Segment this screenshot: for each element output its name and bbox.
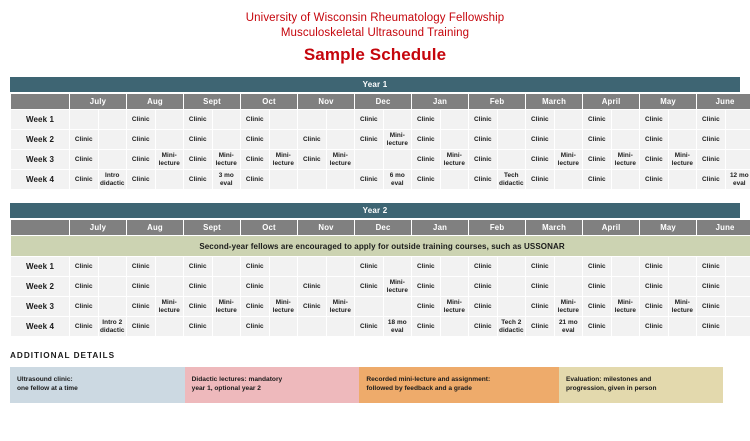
header-line-1: University of Wisconsin Rheumatology Fel… <box>0 11 750 26</box>
year2-cell-dec-w2-1: Clinic <box>355 277 383 296</box>
year1-cell-dec-w2-1: Clinic <box>355 130 383 149</box>
year1-cell-march-w2-1: Clinic <box>526 130 554 149</box>
year1-cell-june-w4-2: 12 moeval <box>726 170 750 189</box>
year1-week-row: Week 1ClinicClinicClinicClinicClinicClin… <box>11 110 750 129</box>
year2-cell-jan-w3-1: Clinic <box>412 297 440 316</box>
year1-cell-sept-w1-2 <box>213 110 241 129</box>
year2-cell-aug-w3-2: Mini-lecture <box>156 297 184 316</box>
year2-cell-jan-w2-1: Clinic <box>412 277 440 296</box>
year2-cell-aug-w4-1: Clinic <box>127 317 155 336</box>
additional-details-section: ADDITIONAL DETAILS Ultrasound clinic:one… <box>10 337 740 403</box>
year1-cell-june-w1-1: Clinic <box>697 110 725 129</box>
year1-cell-oct-w3-2: Mini-lecture <box>270 150 298 169</box>
year1-cell-may-w1-1: Clinic <box>640 110 668 129</box>
year2-cell-june-w2-2 <box>726 277 750 296</box>
year1-cell-may-w4-1: Clinic <box>640 170 668 189</box>
year1-week-row: Week 3ClinicClinicMini-lectureClinicMini… <box>11 150 750 169</box>
year1-cell-nov-w3-2: Mini-lecture <box>327 150 355 169</box>
year2-cell-aug-w1-1: Clinic <box>127 257 155 276</box>
year1-cell-oct-w3-1: Clinic <box>241 150 269 169</box>
year2-month-header-oct: Oct <box>241 220 297 235</box>
year1-cell-sept-w1-1: Clinic <box>184 110 212 129</box>
year2-cell-march-w1-1: Clinic <box>526 257 554 276</box>
year2-cell-march-w4-1: Clinic <box>526 317 554 336</box>
year2-cell-dec-w1-2 <box>384 257 412 276</box>
year2-block: Year 2 JulyAugSeptOctNovDecJanFebMarchAp… <box>10 203 740 337</box>
year1-cell-feb-w1-1: Clinic <box>469 110 497 129</box>
year1-month-header-aug: Aug <box>127 94 183 109</box>
year2-cell-july-w1-1: Clinic <box>70 257 98 276</box>
year1-banner: Year 1 <box>10 77 740 92</box>
year2-cell-oct-w1-1: Clinic <box>241 257 269 276</box>
year2-cell-may-w4-1: Clinic <box>640 317 668 336</box>
year2-month-header-nov: Nov <box>298 220 354 235</box>
legend-item-line1: Didactic lectures: mandatory <box>192 375 353 384</box>
year1-cell-may-w2-2 <box>669 130 697 149</box>
year1-cell-april-w3-1: Clinic <box>583 150 611 169</box>
year2-cell-april-w4-1: Clinic <box>583 317 611 336</box>
year1-cell-oct-w2-1: Clinic <box>241 130 269 149</box>
year2-week-row: Week 1ClinicClinicClinicClinicClinicClin… <box>11 257 750 276</box>
year2-cell-june-w1-2 <box>726 257 750 276</box>
year1-week-label-4: Week 4 <box>11 170 69 189</box>
year1-cell-feb-w2-2 <box>498 130 526 149</box>
legend-item-line2: one fellow at a time <box>17 384 178 393</box>
year2-cell-nov-w1-1 <box>298 257 326 276</box>
year1-cell-sept-w2-2 <box>213 130 241 149</box>
year2-cell-june-w4-2 <box>726 317 750 336</box>
year2-cell-feb-w2-2 <box>498 277 526 296</box>
year1-cell-sept-w3-2: Mini-lecture <box>213 150 241 169</box>
year1-cell-march-w3-2: Mini-lecture <box>555 150 583 169</box>
year2-cell-dec-w4-2: 18 moeval <box>384 317 412 336</box>
year2-cell-june-w4-1: Clinic <box>697 317 725 336</box>
year2-cell-may-w2-1: Clinic <box>640 277 668 296</box>
year2-cell-july-w2-2 <box>99 277 127 296</box>
year1-cell-aug-w3-2: Mini-lecture <box>156 150 184 169</box>
year1-block: Year 1 JulyAugSeptOctNovDecJanFebMarchAp… <box>10 77 740 190</box>
header-line-2: Musculoskeletal Ultrasound Training <box>0 26 750 41</box>
year2-cell-may-w4-2 <box>669 317 697 336</box>
year1-cell-july-w2-2 <box>99 130 127 149</box>
year2-cell-june-w2-1: Clinic <box>697 277 725 296</box>
year2-week-row: Week 3ClinicClinicMini-lectureClinicMini… <box>11 297 750 316</box>
year1-cell-july-w3-2 <box>99 150 127 169</box>
year2-cell-july-w3-1: Clinic <box>70 297 98 316</box>
year1-cell-oct-w1-2 <box>270 110 298 129</box>
year2-week-row: Week 4ClinicIntro 2didacticClinicClinicC… <box>11 317 750 336</box>
year2-cell-aug-w3-1: Clinic <box>127 297 155 316</box>
year2-body: Second-year fellows are encouraged to ap… <box>11 236 750 336</box>
year2-cell-nov-w4-2 <box>327 317 355 336</box>
year2-week-row: Week 2ClinicClinicClinicClinicClinicClin… <box>11 277 750 296</box>
year1-cell-feb-w2-1: Clinic <box>469 130 497 149</box>
year1-cell-march-w2-2 <box>555 130 583 149</box>
year2-cell-nov-w4-1 <box>298 317 326 336</box>
year2-cell-march-w3-1: Clinic <box>526 297 554 316</box>
year2-cell-sept-w4-2 <box>213 317 241 336</box>
year2-cell-oct-w4-1: Clinic <box>241 317 269 336</box>
year1-cell-aug-w1-1: Clinic <box>127 110 155 129</box>
year1-cell-april-w1-2 <box>612 110 640 129</box>
year2-cell-july-w2-1: Clinic <box>70 277 98 296</box>
year2-cell-april-w2-2 <box>612 277 640 296</box>
legend-item-line2: year 1, optional year 2 <box>192 384 353 393</box>
legend-item-didactic: Didactic lectures: mandatoryyear 1, opti… <box>185 367 360 403</box>
year2-cell-nov-w2-2 <box>327 277 355 296</box>
year1-cell-nov-w3-1: Clinic <box>298 150 326 169</box>
year1-cell-oct-w1-1: Clinic <box>241 110 269 129</box>
year1-cell-feb-w3-1: Clinic <box>469 150 497 169</box>
year2-cell-jan-w1-2 <box>441 257 469 276</box>
year2-cell-feb-w2-1: Clinic <box>469 277 497 296</box>
year2-cell-nov-w3-2: Mini-lecture <box>327 297 355 316</box>
year1-cell-jan-w2-2 <box>441 130 469 149</box>
year2-cell-sept-w4-1: Clinic <box>184 317 212 336</box>
year2-month-header-april: April <box>583 220 639 235</box>
year1-cell-sept-w4-1: Clinic <box>184 170 212 189</box>
schedule-page: University of Wisconsin Rheumatology Fel… <box>0 0 750 441</box>
year2-month-header-feb: Feb <box>469 220 525 235</box>
year2-week-label-3: Week 3 <box>11 297 69 316</box>
year1-cell-aug-w4-1: Clinic <box>127 170 155 189</box>
legend-item-clinic: Ultrasound clinic:one fellow at a time <box>10 367 185 403</box>
year2-cell-march-w1-2 <box>555 257 583 276</box>
year2-cell-nov-w3-1: Clinic <box>298 297 326 316</box>
year1-cell-march-w4-1: Clinic <box>526 170 554 189</box>
year1-cell-june-w3-2 <box>726 150 750 169</box>
year2-cell-feb-w3-2 <box>498 297 526 316</box>
year1-cell-july-w1-1 <box>70 110 98 129</box>
year1-cell-march-w4-2 <box>555 170 583 189</box>
year1-cell-may-w2-1: Clinic <box>640 130 668 149</box>
year1-week-label-2: Week 2 <box>11 130 69 149</box>
year2-cell-jan-w4-2 <box>441 317 469 336</box>
year2-cell-april-w3-1: Clinic <box>583 297 611 316</box>
year1-cell-jan-w1-1: Clinic <box>412 110 440 129</box>
year2-cell-dec-w3-1 <box>355 297 383 316</box>
legend-item-line1: Ultrasound clinic: <box>17 375 178 384</box>
year1-cell-oct-w4-1: Clinic <box>241 170 269 189</box>
year2-cell-dec-w2-2: Mini-lecture <box>384 277 412 296</box>
year2-cell-april-w1-2 <box>612 257 640 276</box>
year1-cell-dec-w1-1: Clinic <box>355 110 383 129</box>
year2-month-header-aug: Aug <box>127 220 183 235</box>
year1-cell-april-w1-1: Clinic <box>583 110 611 129</box>
additional-details-heading: ADDITIONAL DETAILS <box>10 351 740 360</box>
year1-cell-july-w2-1: Clinic <box>70 130 98 149</box>
year1-cell-feb-w3-2 <box>498 150 526 169</box>
year2-cell-dec-w4-1: Clinic <box>355 317 383 336</box>
year1-cell-may-w4-2 <box>669 170 697 189</box>
year1-cell-april-w3-2: Mini-lecture <box>612 150 640 169</box>
year2-note-text: Second-year fellows are encouraged to ap… <box>11 236 750 256</box>
year1-cell-feb-w4-2: Techdidactic <box>498 170 526 189</box>
year2-cell-feb-w1-1: Clinic <box>469 257 497 276</box>
year2-cell-nov-w2-1: Clinic <box>298 277 326 296</box>
year2-cell-oct-w2-2 <box>270 277 298 296</box>
year1-cell-dec-w3-1 <box>355 150 383 169</box>
year2-month-header-jan: Jan <box>412 220 468 235</box>
year1-month-header-march: March <box>526 94 582 109</box>
year2-cell-june-w1-1: Clinic <box>697 257 725 276</box>
year2-cell-march-w4-2: 21 moeval <box>555 317 583 336</box>
year2-corner-cell <box>11 220 69 235</box>
legend-item-line2: followed by feedback and a grade <box>366 384 552 393</box>
year2-cell-oct-w3-2: Mini-lecture <box>270 297 298 316</box>
year1-month-header-july: July <box>70 94 126 109</box>
year2-banner: Year 2 <box>10 203 740 218</box>
year1-cell-oct-w4-2 <box>270 170 298 189</box>
year2-cell-jan-w2-2 <box>441 277 469 296</box>
year2-cell-feb-w4-2: Tech 2didactic <box>498 317 526 336</box>
year2-cell-sept-w1-1: Clinic <box>184 257 212 276</box>
year2-week-label-4: Week 4 <box>11 317 69 336</box>
year2-cell-june-w3-2 <box>726 297 750 316</box>
year1-cell-nov-w1-1 <box>298 110 326 129</box>
year2-cell-feb-w3-1: Clinic <box>469 297 497 316</box>
year2-cell-sept-w2-2 <box>213 277 241 296</box>
year1-corner-cell <box>11 94 69 109</box>
year1-week-row: Week 2ClinicClinicClinicClinicClinicClin… <box>11 130 750 149</box>
page-header: University of Wisconsin Rheumatology Fel… <box>0 0 750 66</box>
year1-cell-june-w3-1: Clinic <box>697 150 725 169</box>
year1-cell-april-w4-1: Clinic <box>583 170 611 189</box>
year2-cell-july-w4-1: Clinic <box>70 317 98 336</box>
year2-cell-july-w4-2: Intro 2didactic <box>99 317 127 336</box>
year1-cell-nov-w2-2 <box>327 130 355 149</box>
year1-month-header-sept: Sept <box>184 94 240 109</box>
year2-cell-oct-w2-1: Clinic <box>241 277 269 296</box>
year1-week-label-3: Week 3 <box>11 150 69 169</box>
year1-month-header-april: April <box>583 94 639 109</box>
year1-cell-oct-w2-2 <box>270 130 298 149</box>
year2-cell-march-w2-2 <box>555 277 583 296</box>
year1-cell-dec-w3-2 <box>384 150 412 169</box>
year2-week-label-2: Week 2 <box>11 277 69 296</box>
year1-cell-feb-w4-1: Clinic <box>469 170 497 189</box>
year1-month-header-may: May <box>640 94 696 109</box>
year1-cell-sept-w2-1: Clinic <box>184 130 212 149</box>
year1-cell-july-w4-1: Clinic <box>70 170 98 189</box>
year1-cell-dec-w2-2: Mini-lecture <box>384 130 412 149</box>
year2-note-row: Second-year fellows are encouraged to ap… <box>11 236 750 256</box>
year1-cell-jan-w3-2: Mini-lecture <box>441 150 469 169</box>
year1-cell-aug-w3-1: Clinic <box>127 150 155 169</box>
year2-week-label-1: Week 1 <box>11 257 69 276</box>
legend-item-eval: Evaluation: milestones andprogression, g… <box>559 367 723 403</box>
year1-cell-july-w1-2 <box>99 110 127 129</box>
year2-cell-dec-w3-2 <box>384 297 412 316</box>
year2-cell-jan-w3-2: Mini-lecture <box>441 297 469 316</box>
year2-cell-march-w2-1: Clinic <box>526 277 554 296</box>
year2-cell-aug-w2-1: Clinic <box>127 277 155 296</box>
year2-cell-feb-w1-2 <box>498 257 526 276</box>
year1-week-row: Week 4ClinicIntrodidacticClinicClinic3 m… <box>11 170 750 189</box>
year1-month-header-june: June <box>697 94 750 109</box>
year2-cell-sept-w1-2 <box>213 257 241 276</box>
year2-schedule-table: JulyAugSeptOctNovDecJanFebMarchAprilMayJ… <box>10 219 750 337</box>
year2-cell-aug-w2-2 <box>156 277 184 296</box>
year1-cell-aug-w2-1: Clinic <box>127 130 155 149</box>
year2-month-header-may: May <box>640 220 696 235</box>
year1-cell-april-w4-2 <box>612 170 640 189</box>
year1-cell-may-w3-2: Mini-lecture <box>669 150 697 169</box>
year1-month-header-feb: Feb <box>469 94 525 109</box>
year2-cell-sept-w3-2: Mini-lecture <box>213 297 241 316</box>
legend-item-line2: progression, given in person <box>566 384 716 393</box>
year1-cell-march-w3-1: Clinic <box>526 150 554 169</box>
legend-item-line1: Recorded mini-lecture and assignment: <box>366 375 552 384</box>
year1-cell-nov-w1-2 <box>327 110 355 129</box>
year1-cell-aug-w2-2 <box>156 130 184 149</box>
year1-schedule-table: JulyAugSeptOctNovDecJanFebMarchAprilMayJ… <box>10 93 750 190</box>
page-title: Sample Schedule <box>0 43 750 66</box>
year2-cell-may-w3-1: Clinic <box>640 297 668 316</box>
year2-cell-july-w3-2 <box>99 297 127 316</box>
year1-cell-jan-w2-1: Clinic <box>412 130 440 149</box>
year1-month-header-row: JulyAugSeptOctNovDecJanFebMarchAprilMayJ… <box>11 94 750 109</box>
year2-cell-sept-w2-1: Clinic <box>184 277 212 296</box>
year1-cell-dec-w1-2 <box>384 110 412 129</box>
year2-cell-may-w3-2: Mini-lecture <box>669 297 697 316</box>
year2-cell-april-w4-2 <box>612 317 640 336</box>
year2-cell-may-w1-1: Clinic <box>640 257 668 276</box>
year2-month-header-march: March <box>526 220 582 235</box>
year2-cell-sept-w3-1: Clinic <box>184 297 212 316</box>
year1-month-header-nov: Nov <box>298 94 354 109</box>
year2-cell-may-w1-2 <box>669 257 697 276</box>
year1-cell-dec-w4-2: 6 moeval <box>384 170 412 189</box>
year2-cell-aug-w4-2 <box>156 317 184 336</box>
year1-cell-march-w1-2 <box>555 110 583 129</box>
year1-cell-jan-w4-2 <box>441 170 469 189</box>
year2-cell-jan-w4-1: Clinic <box>412 317 440 336</box>
year1-cell-june-w2-1: Clinic <box>697 130 725 149</box>
year2-cell-nov-w1-2 <box>327 257 355 276</box>
year1-cell-aug-w1-2 <box>156 110 184 129</box>
year2-cell-april-w2-1: Clinic <box>583 277 611 296</box>
year1-cell-june-w1-2 <box>726 110 750 129</box>
year1-week-label-1: Week 1 <box>11 110 69 129</box>
year2-cell-march-w3-2: Mini-lecture <box>555 297 583 316</box>
year1-cell-dec-w4-1: Clinic <box>355 170 383 189</box>
legend-item-line1: Evaluation: milestones and <box>566 375 716 384</box>
legend: Ultrasound clinic:one fellow at a timeDi… <box>10 367 723 403</box>
year1-cell-nov-w4-1 <box>298 170 326 189</box>
year2-cell-jan-w1-1: Clinic <box>412 257 440 276</box>
year1-cell-jan-w3-1: Clinic <box>412 150 440 169</box>
year2-month-header-dec: Dec <box>355 220 411 235</box>
year2-month-header-row: JulyAugSeptOctNovDecJanFebMarchAprilMayJ… <box>11 220 750 235</box>
year2-cell-july-w1-2 <box>99 257 127 276</box>
year1-body: Week 1ClinicClinicClinicClinicClinicClin… <box>11 110 750 189</box>
year2-cell-feb-w4-1: Clinic <box>469 317 497 336</box>
year1-cell-feb-w1-2 <box>498 110 526 129</box>
year2-cell-aug-w1-2 <box>156 257 184 276</box>
year1-cell-july-w4-2: Introdidactic <box>99 170 127 189</box>
year1-cell-nov-w4-2 <box>327 170 355 189</box>
year1-cell-april-w2-1: Clinic <box>583 130 611 149</box>
year1-cell-jan-w4-1: Clinic <box>412 170 440 189</box>
year1-cell-jan-w1-2 <box>441 110 469 129</box>
year2-cell-oct-w1-2 <box>270 257 298 276</box>
year1-cell-june-w2-2 <box>726 130 750 149</box>
year1-cell-nov-w2-1: Clinic <box>298 130 326 149</box>
year1-cell-july-w3-1: Clinic <box>70 150 98 169</box>
year2-month-header-july: July <box>70 220 126 235</box>
year2-cell-april-w1-1: Clinic <box>583 257 611 276</box>
year2-cell-june-w3-1: Clinic <box>697 297 725 316</box>
year1-cell-aug-w4-2 <box>156 170 184 189</box>
year1-cell-may-w1-2 <box>669 110 697 129</box>
year1-month-header-jan: Jan <box>412 94 468 109</box>
legend-item-mini: Recorded mini-lecture and assignment:fol… <box>359 367 559 403</box>
year2-cell-dec-w1-1: Clinic <box>355 257 383 276</box>
year1-cell-april-w2-2 <box>612 130 640 149</box>
year1-cell-march-w1-1: Clinic <box>526 110 554 129</box>
year1-cell-sept-w4-2: 3 moeval <box>213 170 241 189</box>
year1-month-header-oct: Oct <box>241 94 297 109</box>
year2-month-header-june: June <box>697 220 750 235</box>
year2-cell-may-w2-2 <box>669 277 697 296</box>
year1-cell-june-w4-1: Clinic <box>697 170 725 189</box>
year2-cell-april-w3-2: Mini-lecture <box>612 297 640 316</box>
year1-cell-sept-w3-1: Clinic <box>184 150 212 169</box>
year2-cell-oct-w4-2 <box>270 317 298 336</box>
year2-month-header-sept: Sept <box>184 220 240 235</box>
year2-cell-oct-w3-1: Clinic <box>241 297 269 316</box>
year1-cell-may-w3-1: Clinic <box>640 150 668 169</box>
year1-month-header-dec: Dec <box>355 94 411 109</box>
